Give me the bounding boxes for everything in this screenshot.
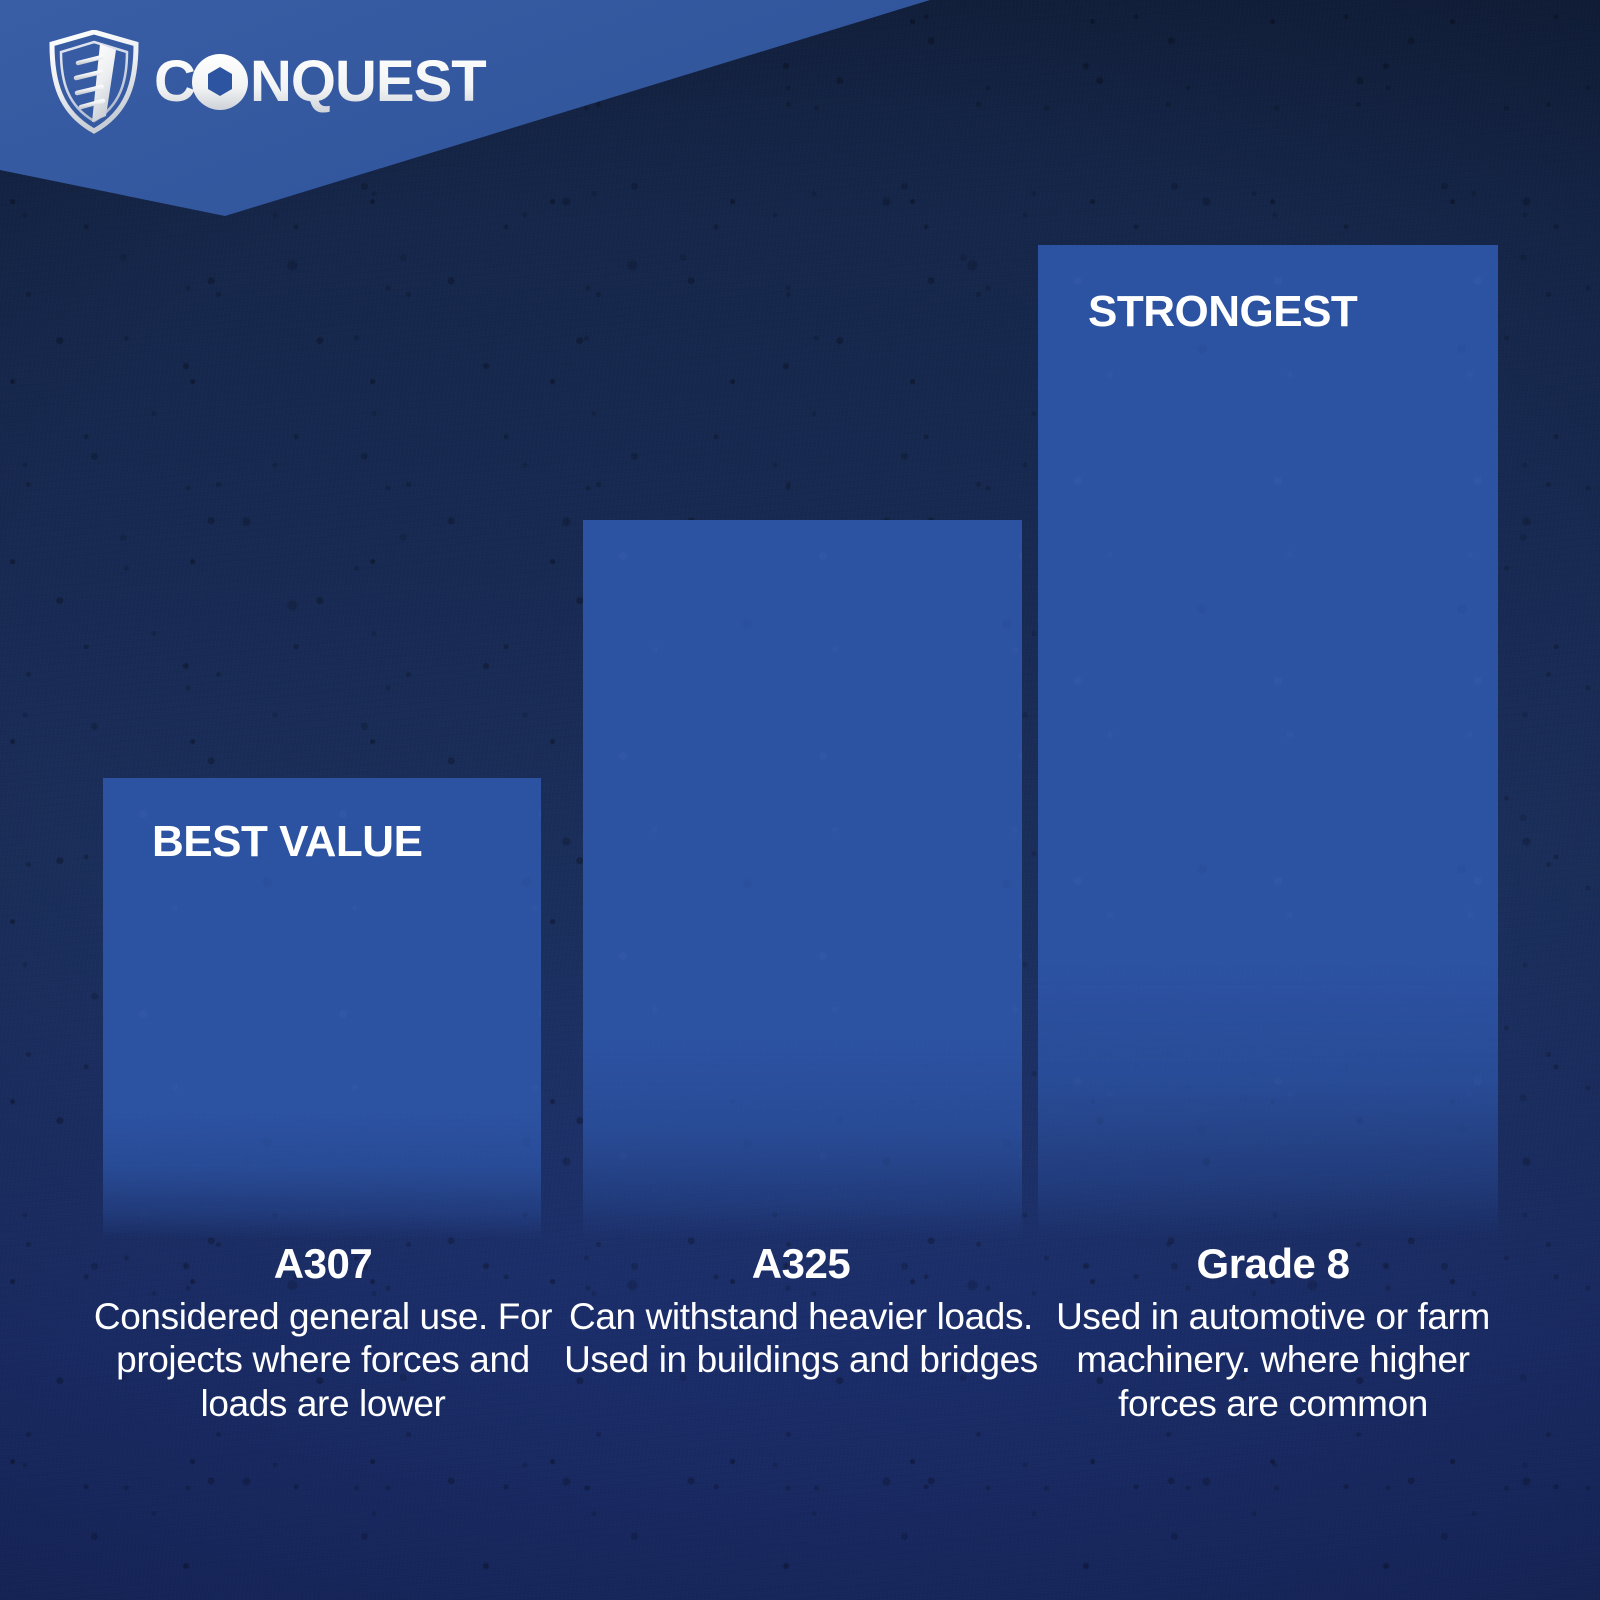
column-desc-a325: Can withstand heavier loads. Used in bui… bbox=[560, 1295, 1042, 1382]
column-desc-a307: Considered general use. For projects whe… bbox=[82, 1295, 564, 1425]
column-title-a307: A307 bbox=[82, 1240, 564, 1287]
column-desc-grade8: Used in automotive or farm machinery. wh… bbox=[1038, 1295, 1508, 1425]
column-grade8: Grade 8 Used in automotive or farm machi… bbox=[1038, 1240, 1508, 1425]
column-a325: A325 Can withstand heavier loads. Used i… bbox=[560, 1240, 1042, 1382]
badge-best-value: BEST VALUE bbox=[152, 820, 422, 864]
bar-texture bbox=[583, 520, 1022, 1240]
brand-wordmark: C NQUEST bbox=[154, 51, 534, 113]
column-title-grade8: Grade 8 bbox=[1038, 1240, 1508, 1287]
svg-text:C: C bbox=[154, 51, 195, 113]
brand-logo[interactable]: C NQUEST bbox=[48, 30, 534, 134]
svg-text:NQUEST: NQUEST bbox=[250, 51, 486, 113]
infographic-canvas: BEST VALUE STRONGEST bbox=[0, 0, 1600, 1600]
column-title-a325: A325 bbox=[560, 1240, 1042, 1287]
badge-strongest: STRONGEST bbox=[1088, 290, 1357, 334]
bar-grade8 bbox=[1038, 245, 1498, 1240]
shield-screw-icon bbox=[48, 30, 140, 134]
column-a307: A307 Considered general use. For project… bbox=[82, 1240, 564, 1425]
bar-a325 bbox=[583, 520, 1022, 1240]
bar-texture bbox=[1038, 245, 1498, 1240]
